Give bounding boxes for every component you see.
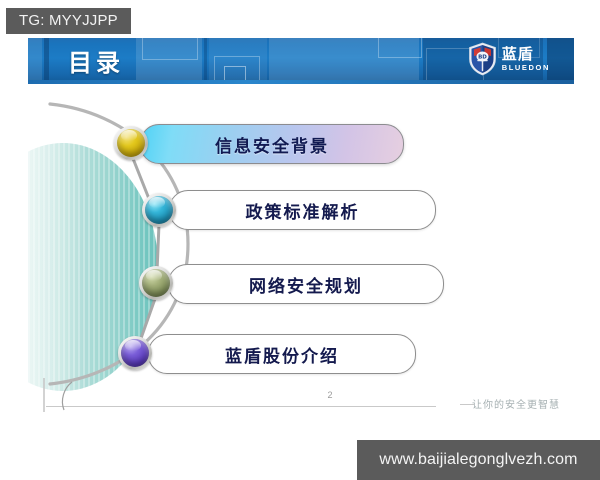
agenda-bullet-3[interactable] — [139, 266, 173, 300]
agenda-item-3[interactable]: 网络安全规划 — [168, 264, 444, 304]
presentation-slide: 目录 BD 蓝盾 BLUEDON — [28, 38, 574, 438]
connector-lines — [28, 38, 574, 438]
bullet-gloss-2 — [149, 197, 164, 208]
agenda-item-1-label: 信息安全背景 — [215, 132, 329, 157]
agenda-item-2[interactable]: 政策标准解析 — [169, 190, 436, 230]
footer-tagline: 让你的安全更智慧 — [472, 396, 560, 411]
footer-corner-curve — [42, 378, 102, 418]
bullet-gloss-3 — [146, 270, 161, 281]
bullet-gloss-4 — [125, 340, 140, 351]
agenda-item-4[interactable]: 蓝盾股份介绍 — [148, 334, 416, 374]
page-number: 2 — [318, 390, 342, 400]
agenda-bullet-2[interactable] — [142, 193, 176, 227]
slide-canvas: TG: MYYJJPP 目录 — [0, 0, 600, 480]
tg-watermark-text: TG: MYYJJPP — [19, 12, 118, 29]
agenda-item-2-label: 政策标准解析 — [246, 198, 360, 223]
agenda-bullet-4[interactable] — [118, 336, 152, 370]
agenda-item-3-label: 网络安全规划 — [249, 272, 363, 297]
agenda-item-4-label: 蓝盾股份介绍 — [225, 342, 339, 367]
footer-rule — [46, 406, 436, 407]
agenda-bullet-1[interactable] — [114, 126, 148, 160]
tg-watermark-badge: TG: MYYJJPP — [6, 8, 131, 34]
agenda-item-1[interactable]: 信息安全背景 — [140, 124, 404, 164]
url-watermark-text: www.baijialegonglvezh.com — [379, 451, 577, 469]
url-watermark-badge: www.baijialegonglvezh.com — [357, 440, 600, 480]
bullet-gloss-1 — [121, 130, 136, 141]
